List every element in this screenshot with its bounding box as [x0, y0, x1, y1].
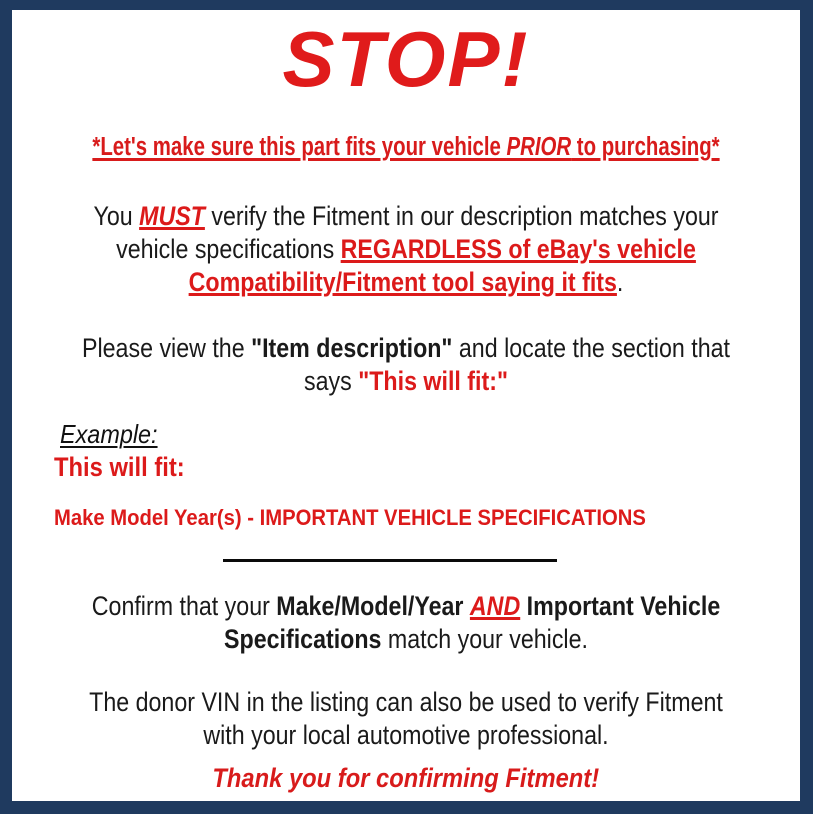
p2-item-description-emphasis: "Item description"	[251, 333, 452, 363]
closing-thanks-text: Thank you for confirming Fitment!	[213, 763, 600, 794]
p2-seg-1: Please view the	[82, 333, 251, 363]
p1-seg-5: .	[617, 267, 623, 297]
p3-seg-5: match your vehicle.	[381, 624, 587, 654]
closing-thanks: Thank you for confirming Fitment!	[12, 763, 800, 794]
p3-make-model-year-emphasis: Make/Model/Year	[276, 591, 463, 621]
p2-this-will-fit-emphasis: "This will fit:"	[358, 366, 508, 396]
paragraph-donor-vin: The donor VIN in the listing can also be…	[26, 686, 786, 752]
example-label: Example:	[60, 420, 188, 449]
example-block: Example: This will fit:	[54, 420, 203, 482]
paragraph-confirm: Confirm that your Make/Model/Year AND Im…	[26, 590, 786, 656]
p1-seg-1: You	[93, 201, 139, 231]
paragraph-must-verify: You MUST verify the Fitment in our descr…	[26, 200, 786, 300]
subtitle-banner: *Let's make sure this part fits your veh…	[91, 132, 721, 164]
notice-content-panel: STOP! *Let's make sure this part fits yo…	[12, 10, 800, 801]
subtitle-emphasis: PRIOR	[507, 133, 572, 161]
example-spec-line: Make Model Year(s) - IMPORTANT VEHICLE S…	[54, 505, 646, 531]
example-fit-heading: This will fit:	[54, 453, 185, 483]
subtitle-prefix: *Let's make sure this part fits your veh…	[92, 133, 506, 161]
fitment-notice-page: STOP! *Let's make sure this part fits yo…	[0, 0, 813, 814]
paragraph-item-description: Please view the "Item description" and l…	[26, 332, 786, 398]
p4-text: The donor VIN in the listing can also be…	[79, 686, 733, 752]
p3-seg-1: Confirm that your	[92, 591, 277, 621]
subtitle-suffix: to purchasing*	[571, 133, 719, 161]
section-divider	[223, 559, 557, 562]
page-title: STOP!	[12, 20, 800, 98]
p1-must-emphasis: MUST	[139, 201, 205, 231]
p3-and-emphasis: AND	[470, 591, 520, 621]
